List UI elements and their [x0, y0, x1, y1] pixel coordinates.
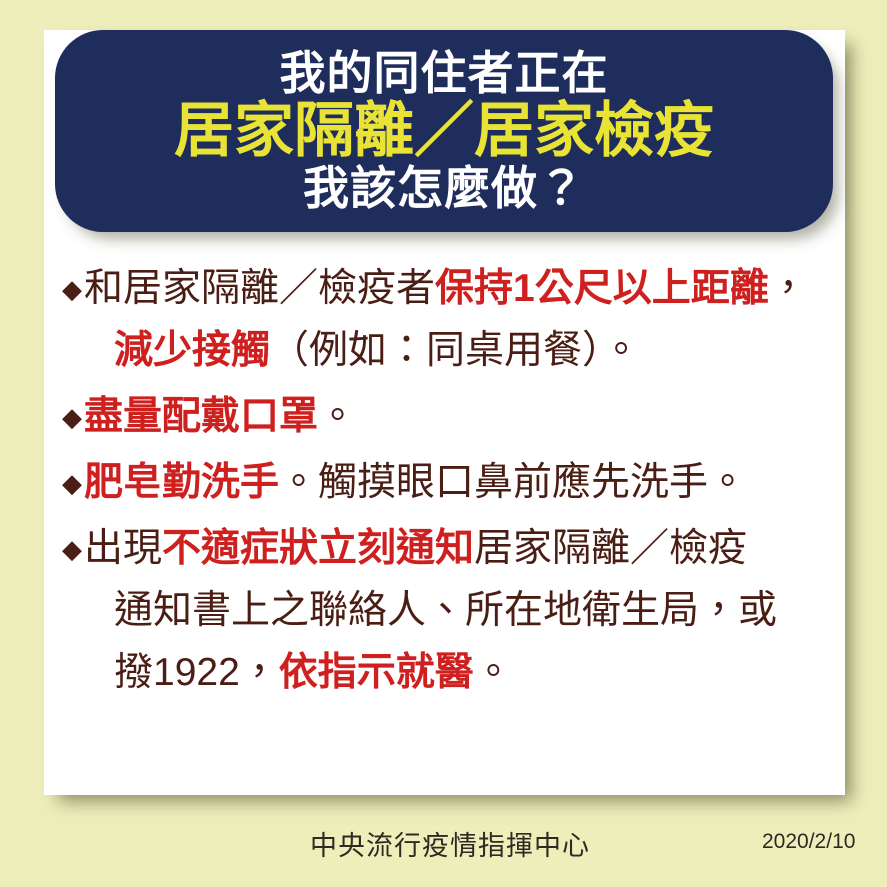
body-text: 。觸摸眼口鼻前應先洗手。 [279, 461, 747, 504]
footer: 中央流行疫情指揮中心 2020/2/10 [0, 822, 887, 872]
bullet-text-line: 和居家隔離／檢疫者保持1公尺以上距離， [84, 258, 832, 320]
body-text: 居家隔離／檢疫 [474, 527, 747, 570]
bullet-text-line: 盡量配戴口罩。 [84, 386, 832, 448]
bullet-item: ◆和居家隔離／檢疫者保持1公尺以上距離，減少接觸（例如：同桌用餐）。 [62, 258, 832, 382]
highlight-text: 保持1公尺以上距離 [435, 267, 769, 310]
bullet-body: 肥皂勤洗手。觸摸眼口鼻前應先洗手。 [84, 452, 832, 514]
header-banner: 我的同住者正在 居家隔離／居家檢疫 我該怎麼做？ [55, 30, 833, 232]
bullet-text-line: 減少接觸（例如：同桌用餐）。 [84, 320, 832, 382]
footer-date: 2020/2/10 [762, 830, 855, 854]
bullet-body: 盡量配戴口罩。 [84, 386, 832, 448]
highlight-text: 不適症狀立刻通知 [162, 527, 474, 570]
bullet-item: ◆肥皂勤洗手。觸摸眼口鼻前應先洗手。 [62, 452, 832, 514]
body-text: 和居家隔離／檢疫者 [84, 267, 435, 310]
bullet-item: ◆盡量配戴口罩。 [62, 386, 832, 448]
body-text: ， [769, 267, 808, 310]
body-text: 撥1922， [114, 651, 279, 694]
title-line-3-question: 我該怎麼做？ [303, 165, 585, 212]
highlight-text: 減少接觸 [114, 329, 270, 372]
bullet-item: ◆出現不適症狀立刻通知居家隔離／檢疫通知書上之聯絡人、所在地衛生局，或撥1922… [62, 518, 832, 704]
body-text: 。 [318, 395, 357, 438]
title-line-1: 我的同住者正在 [280, 50, 609, 97]
bullet-text-line: 通知書上之聯絡人、所在地衛生局，或 [84, 580, 832, 642]
body-text: 出現 [84, 527, 162, 570]
diamond-bullet-icon: ◆ [62, 386, 84, 448]
bullet-text-line: 撥1922，依指示就醫。 [84, 642, 832, 704]
diamond-bullet-icon: ◆ [62, 452, 84, 514]
diamond-bullet-icon: ◆ [62, 518, 84, 580]
footer-organization: 中央流行疫情指揮中心 [310, 824, 590, 863]
bullet-body: 出現不適症狀立刻通知居家隔離／檢疫通知書上之聯絡人、所在地衛生局，或撥1922，… [84, 518, 832, 704]
bullet-text-line: 肥皂勤洗手。觸摸眼口鼻前應先洗手。 [84, 452, 832, 514]
diamond-bullet-icon: ◆ [62, 258, 84, 320]
body-text: 通知書上之聯絡人、所在地衛生局，或 [114, 589, 777, 632]
body-text: （例如：同桌用餐）。 [270, 329, 641, 372]
highlight-text: 肥皂勤洗手 [84, 461, 279, 504]
highlight-text: 盡量配戴口罩 [84, 395, 318, 438]
poster-root: 我的同住者正在 居家隔離／居家檢疫 我該怎麼做？ ◆和居家隔離／檢疫者保持1公尺… [0, 0, 887, 887]
body-text: 。 [474, 651, 513, 694]
highlight-text: 依指示就醫 [279, 651, 474, 694]
bullet-body: 和居家隔離／檢疫者保持1公尺以上距離，減少接觸（例如：同桌用餐）。 [84, 258, 832, 382]
bullet-text-line: 出現不適症狀立刻通知居家隔離／檢疫 [84, 518, 832, 580]
title-line-2-highlight: 居家隔離／居家檢疫 [174, 100, 714, 161]
bullet-list: ◆和居家隔離／檢疫者保持1公尺以上距離，減少接觸（例如：同桌用餐）。◆盡量配戴口… [62, 258, 832, 708]
